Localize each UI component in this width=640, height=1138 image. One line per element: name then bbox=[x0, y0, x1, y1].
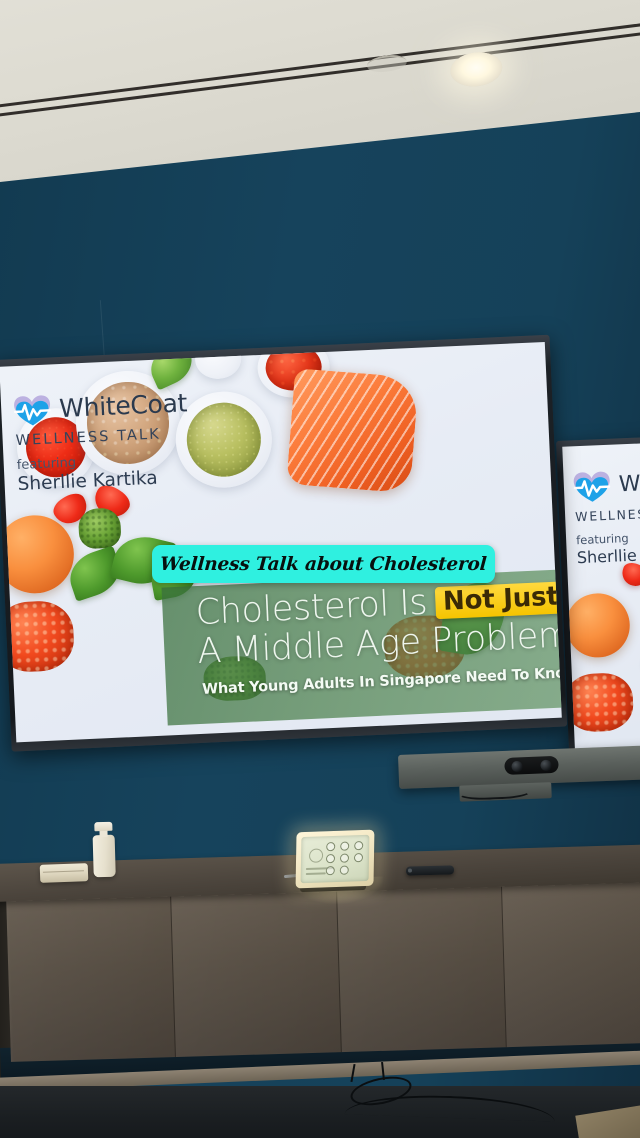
tablet-button[interactable] bbox=[326, 854, 335, 863]
whitecoat-heart-logo-icon bbox=[571, 467, 612, 505]
whitecoat-heart-logo-icon bbox=[11, 390, 53, 428]
camera-lens-icon bbox=[540, 760, 551, 771]
main-display-bezel: WhiteCoat WELLNESS TALK featuring Sherll… bbox=[0, 335, 567, 752]
secondary-brand-name: Wh bbox=[618, 470, 640, 496]
folded-towel bbox=[40, 863, 89, 883]
brand-row: WhiteCoat bbox=[11, 383, 212, 428]
secondary-display-bezel: Wh WELLNESS featuring Sherllie Ka bbox=[556, 436, 640, 759]
room-control-tablet[interactable] bbox=[296, 830, 375, 889]
tablet-button[interactable] bbox=[340, 841, 349, 850]
tablet-button[interactable] bbox=[354, 841, 363, 850]
screenshot-root: Wh WELLNESS featuring Sherllie Ka bbox=[0, 0, 640, 1138]
hand-sanitizer-bottle bbox=[92, 822, 116, 878]
secondary-brand-block: Wh WELLNESS featuring Sherllie Ka bbox=[571, 462, 640, 568]
conference-camera-module bbox=[504, 756, 559, 775]
not-just-badge: Not Just bbox=[434, 581, 561, 619]
main-display[interactable]: WhiteCoat WELLNESS TALK featuring Sherll… bbox=[0, 335, 567, 752]
cabinet-door[interactable] bbox=[502, 874, 640, 1047]
ceiling-slot bbox=[0, 4, 640, 110]
presentation-remote[interactable] bbox=[406, 865, 454, 875]
food-orange bbox=[564, 592, 631, 659]
camera-lens-icon bbox=[511, 761, 522, 772]
credenza-cabinet bbox=[6, 874, 640, 1062]
tablet-button[interactable] bbox=[326, 866, 335, 875]
cabinet-door[interactable] bbox=[6, 889, 176, 1062]
food-salmon-fillet bbox=[286, 368, 419, 493]
secondary-display-screen: Wh WELLNESS featuring Sherllie Ka bbox=[562, 442, 640, 752]
brand-block: WhiteCoat WELLNESS TALK featuring Sherll… bbox=[11, 383, 215, 495]
brand-subtitle: WELLNESS TALK bbox=[15, 424, 214, 449]
sanitizer-body bbox=[93, 835, 116, 878]
cabinet-door[interactable] bbox=[171, 884, 341, 1057]
video-caption-banner: Wellness Talk about Cholesterol bbox=[152, 545, 495, 583]
tablet-text-line bbox=[306, 872, 326, 874]
food-berry-cluster bbox=[564, 672, 634, 733]
tablet-screen[interactable] bbox=[301, 835, 370, 883]
main-display-screen: WhiteCoat WELLNESS TALK featuring Sherll… bbox=[0, 342, 562, 742]
tablet-button-grid[interactable] bbox=[326, 841, 365, 875]
tablet-button[interactable] bbox=[340, 854, 349, 863]
secondary-featuring-label: featuring bbox=[576, 527, 640, 548]
food-berry-cluster bbox=[0, 600, 75, 673]
secondary-brand-subtitle: WELLNESS bbox=[575, 503, 640, 525]
tablet-logo-icon bbox=[309, 848, 323, 863]
video-caption-text: Wellness Talk about Cholesterol bbox=[160, 554, 488, 575]
food-orange bbox=[0, 514, 76, 595]
slide-headline: Cholesterol Is Not Just A Middle Age Pro… bbox=[195, 579, 562, 670]
brand-name: WhiteCoat bbox=[59, 388, 188, 423]
floor-plank bbox=[575, 1105, 640, 1138]
secondary-brand-row: Wh bbox=[571, 462, 640, 505]
sanitizer-pump-icon[interactable] bbox=[94, 822, 112, 831]
tablet-button[interactable] bbox=[354, 853, 363, 862]
tablet-button[interactable] bbox=[340, 866, 349, 875]
tablet-button[interactable] bbox=[326, 842, 335, 851]
food-broccoli bbox=[78, 507, 122, 549]
cabinet-door[interactable] bbox=[336, 879, 506, 1052]
secondary-display[interactable]: Wh WELLNESS featuring Sherllie Ka bbox=[556, 436, 640, 759]
